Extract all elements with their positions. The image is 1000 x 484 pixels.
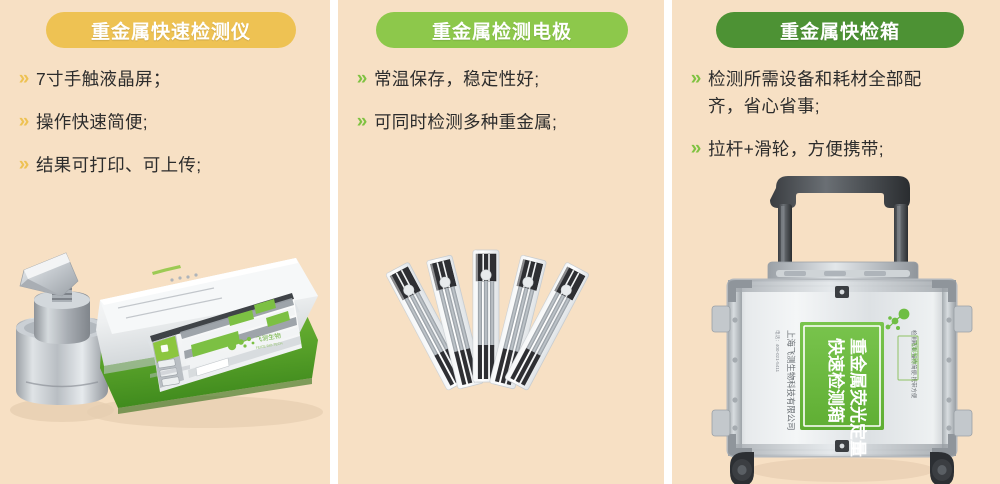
wheel [930,452,954,484]
wheel [730,452,754,484]
case-label-line-1: 重金属荧光定量 [848,338,868,457]
svg-text:电话：400-021-5411: 电话：400-021-5411 [774,330,781,372]
case-contact-lines: 电话：400-021-5411 [774,330,781,372]
benchtop-analyzer-with-touchscreen: 飞测生物 FEICE BIO-TECH [87,258,323,428]
svg-text:飞测生物: 飞测生物 [910,340,918,364]
aluminium-case-body: 重金属荧光定量 快速检测箱 上海飞测生物科技有限公司 电话：400-021-54… [712,280,972,457]
panel-instrument: 重金属快速检测仪 » 7寸手触液晶屏； » 操作快速简便; » 结果可打印、可上… [0,0,330,484]
screen-printed-electrode-strips-photo [338,0,664,484]
aluminium-trolley-case-photo: 重金属荧光定量 快速检测箱 上海飞测生物科技有限公司 电话：400-021-54… [672,0,1000,484]
panel-case: 重金属快检箱 » 检测所需设备和耗材全部配齐，省心省事; » 拉杆+滑轮，方便携… [672,0,1000,484]
case-company-name: 上海飞测生物科技有限公司 [786,330,796,431]
product-feature-banner: 重金属快速检测仪 » 7寸手触液晶屏； » 操作快速简便; » 结果可打印、可上… [0,0,1000,484]
case-label-line-2: 快速检测箱 [826,338,846,423]
panel-electrode: 重金属检测电极 » 常温保存，稳定性好; » 可同时检测多种重金属; [338,0,664,484]
case-lock[interactable] [835,440,849,452]
case-lock[interactable] [835,286,849,298]
heavy-metal-rapid-analyzer-photo: 飞测生物 FEICE BIO-TECH [0,0,330,484]
telescoping-handle[interactable] [770,176,910,276]
